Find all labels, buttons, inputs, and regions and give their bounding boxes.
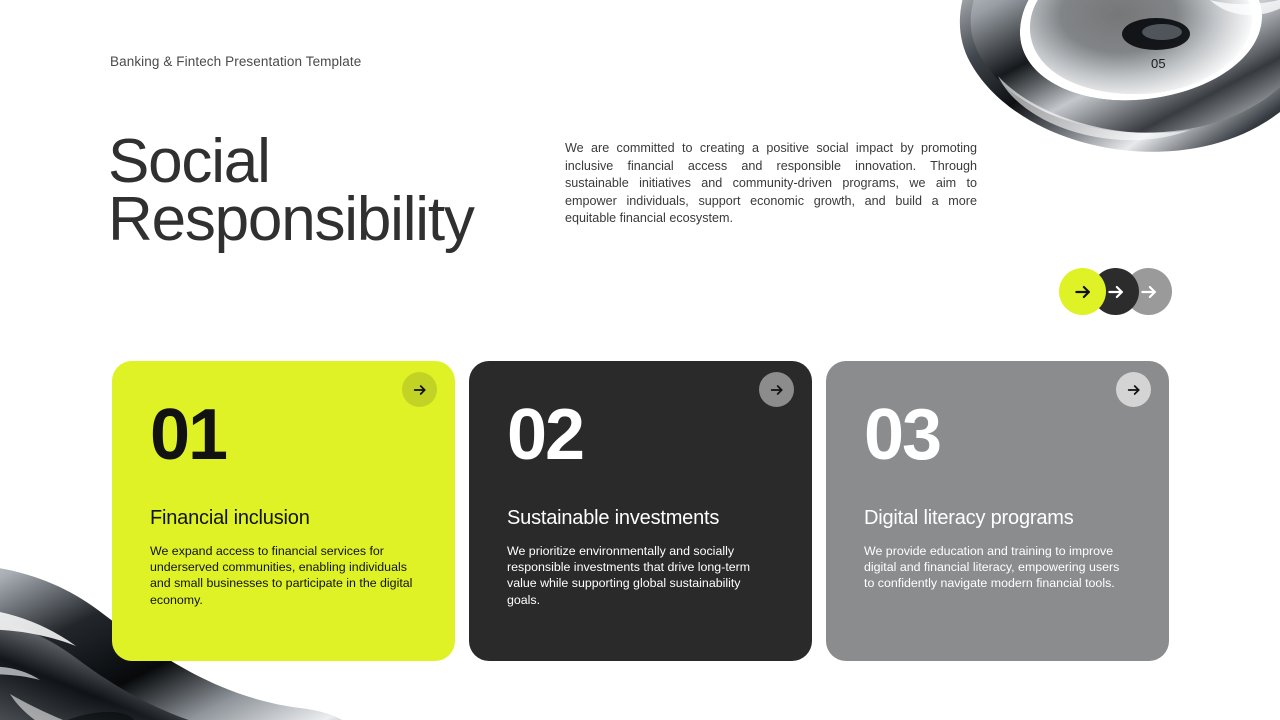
arrow-right-icon <box>769 382 785 398</box>
card-number: 02 <box>507 399 583 471</box>
page-title: Social Responsibility <box>108 133 578 249</box>
card-arrow-button-2[interactable] <box>759 372 794 407</box>
card-body-text: We prioritize environmentally and social… <box>507 543 775 608</box>
card-heading: Sustainable investments <box>507 506 719 530</box>
page-title-line-2: Responsibility <box>108 191 578 249</box>
card-financial-inclusion[interactable]: 01 Financial inclusion We expand access … <box>112 361 455 661</box>
page-number: 05 <box>1151 56 1166 71</box>
card-arrow-button-3[interactable] <box>1116 372 1151 407</box>
arrow-right-icon <box>1139 282 1159 302</box>
eyebrow-label: Banking & Fintech Presentation Template <box>110 54 361 69</box>
card-heading: Digital literacy programs <box>864 506 1074 530</box>
card-digital-literacy-programs[interactable]: 03 Digital literacy programs We provide … <box>826 361 1169 661</box>
card-body-text: We provide education and training to imp… <box>864 543 1132 592</box>
arrow-right-icon <box>412 382 428 398</box>
card-arrow-button-1[interactable] <box>402 372 437 407</box>
arrow-right-icon <box>1106 282 1126 302</box>
arrow-right-icon <box>1073 282 1093 302</box>
card-number: 01 <box>150 399 226 471</box>
slide: Banking & Fintech Presentation Template … <box>0 0 1280 720</box>
nav-circle-1-button[interactable] <box>1059 268 1106 315</box>
arrow-right-icon <box>1126 382 1142 398</box>
card-number: 03 <box>864 399 940 471</box>
card-body-text: We expand access to financial services f… <box>150 543 418 608</box>
navigation-circles <box>1059 268 1184 315</box>
intro-paragraph: We are committed to creating a positive … <box>565 140 977 228</box>
card-sustainable-investments[interactable]: 02 Sustainable investments We prioritize… <box>469 361 812 661</box>
cards-row: 01 Financial inclusion We expand access … <box>112 361 1169 661</box>
card-heading: Financial inclusion <box>150 506 310 530</box>
page-title-line-1: Social <box>108 133 578 191</box>
